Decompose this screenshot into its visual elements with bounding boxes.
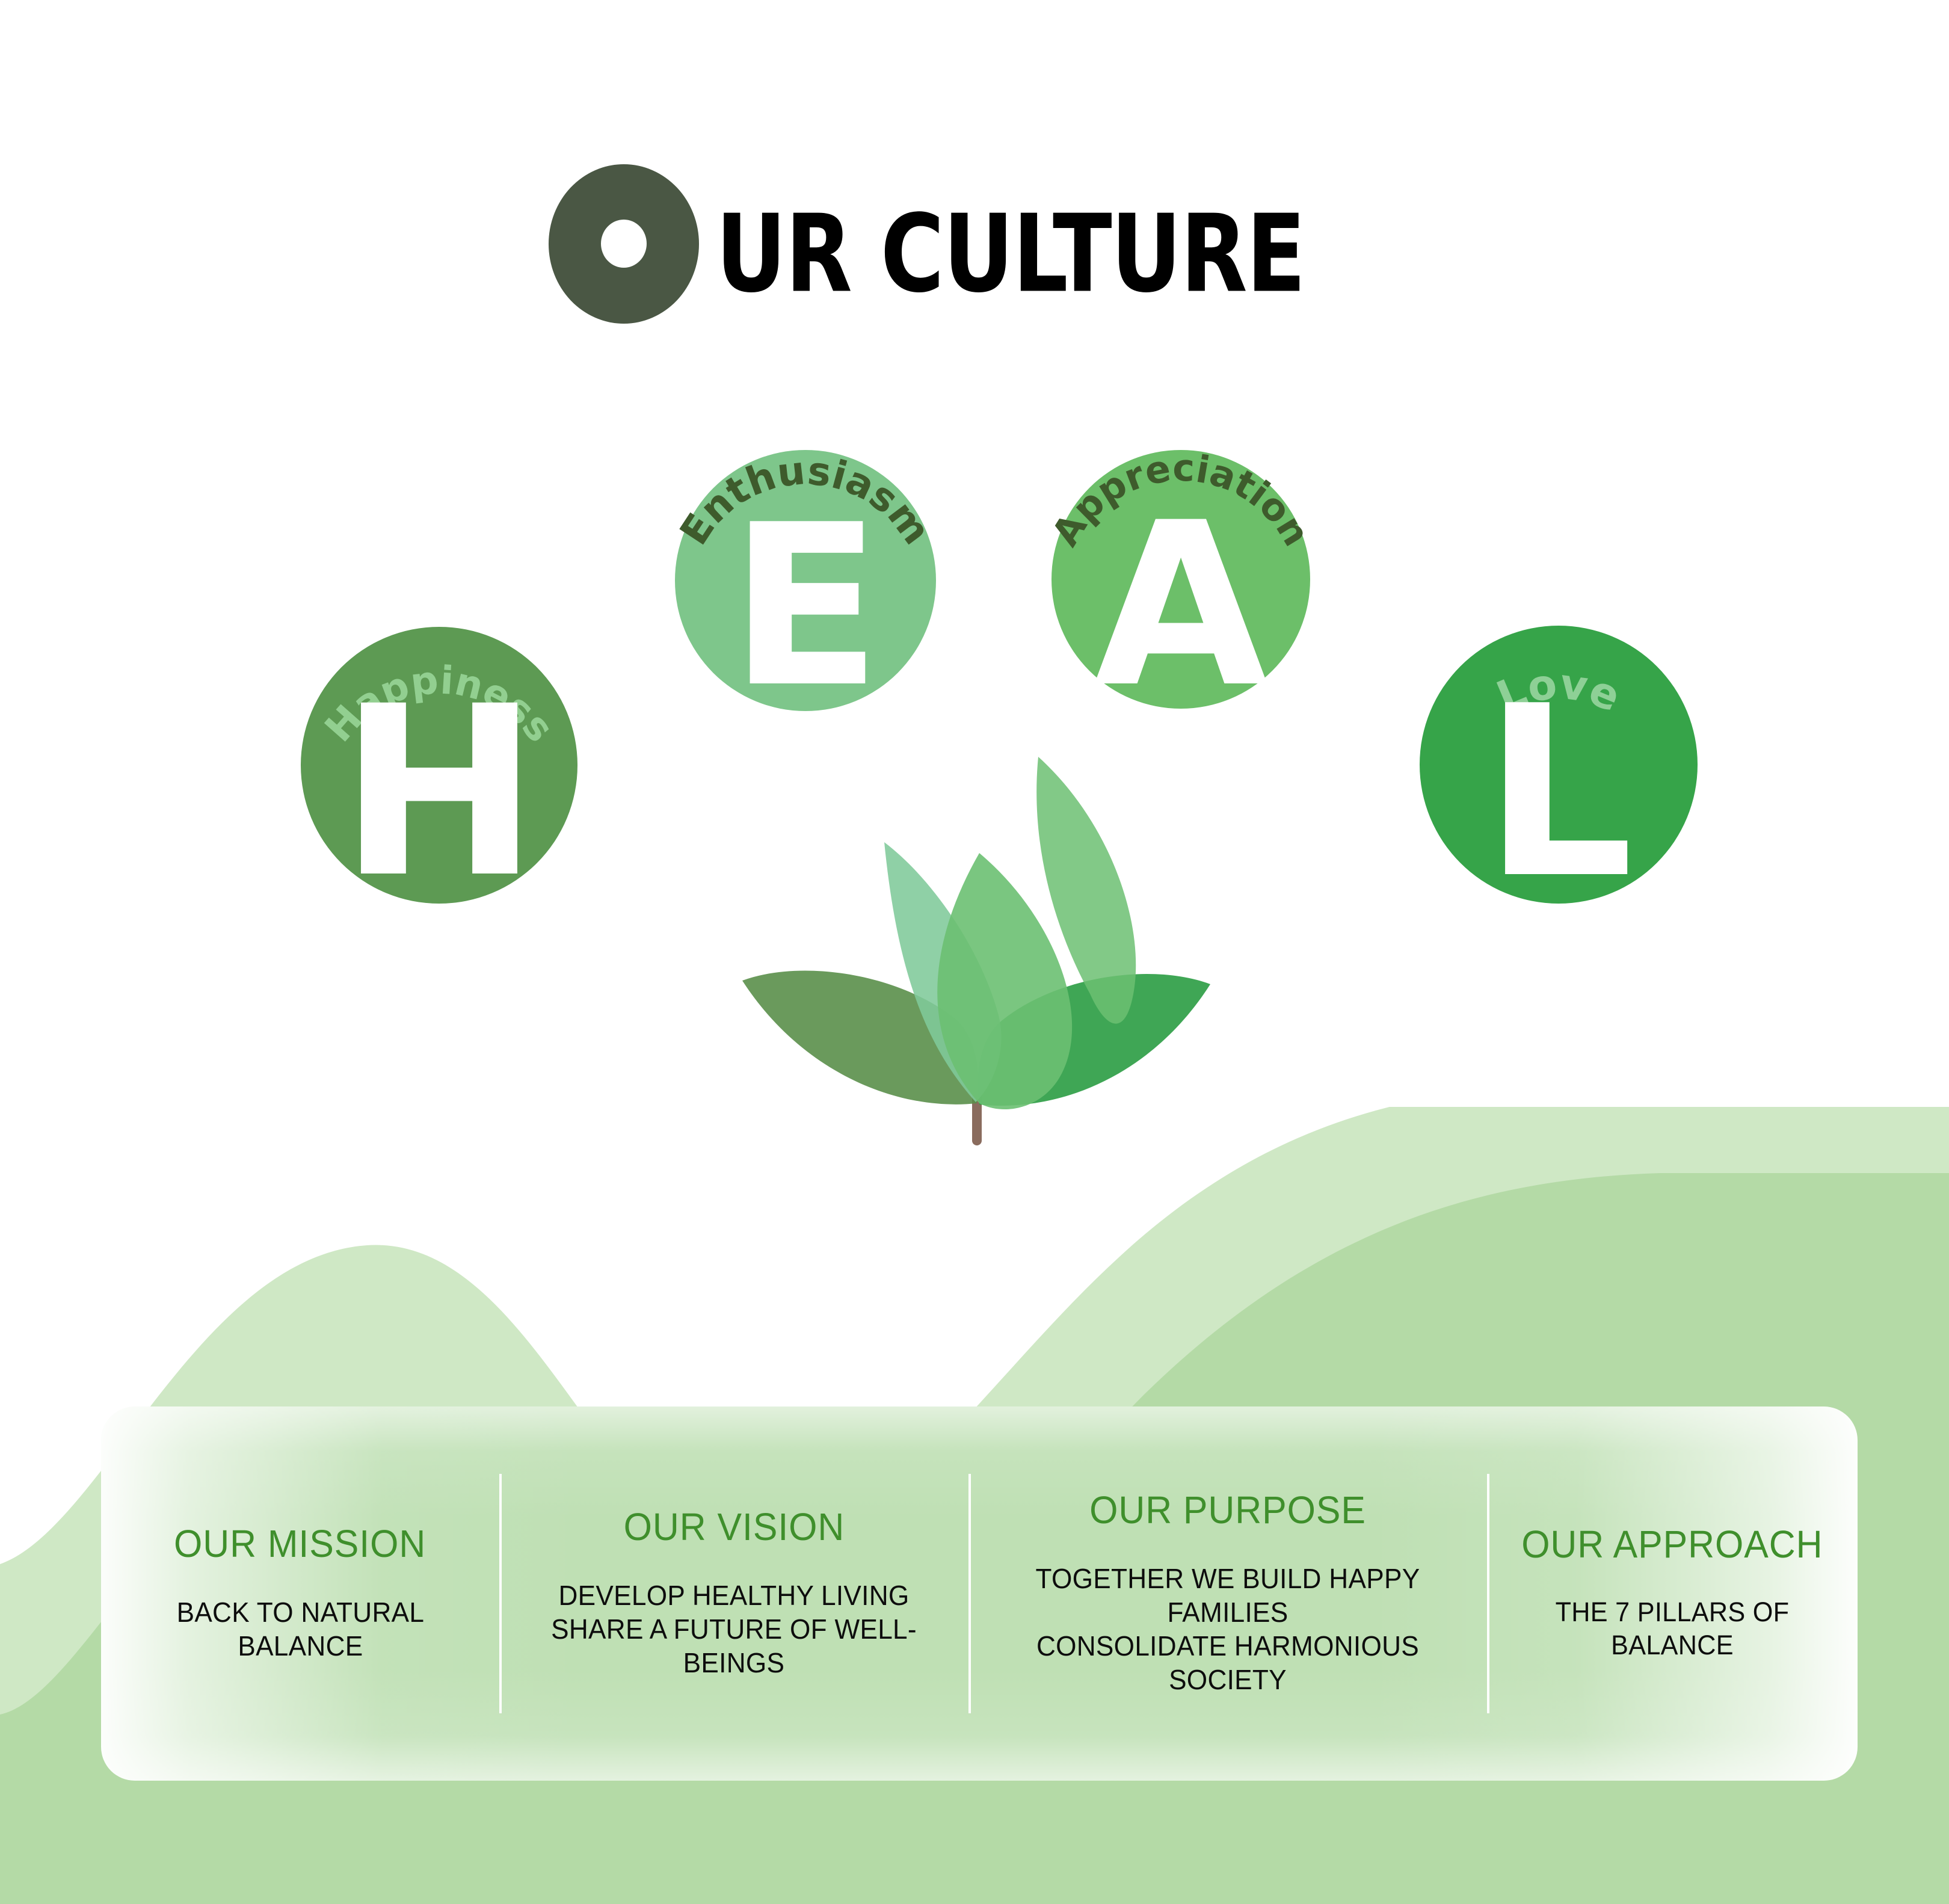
heal-circle-love[interactable]: Love L bbox=[1420, 626, 1698, 904]
vision-title: OUR VISION bbox=[623, 1508, 845, 1546]
panel-column-approach[interactable]: OUR APPROACH THE 7 PILLARS OF BALANCE bbox=[1487, 1406, 1858, 1781]
values-panel: OUR MISSION BACK TO NATURAL BALANCE OUR … bbox=[101, 1406, 1858, 1781]
purpose-body: TOGETHER WE BUILD HAPPY FAMILIES CONSOLI… bbox=[986, 1562, 1470, 1696]
heal-letter-e: E bbox=[675, 496, 936, 718]
panel-column-vision[interactable]: OUR VISION DEVELOP HEALTHY LIVING SHARE … bbox=[499, 1406, 968, 1781]
mission-title: OUR MISSION bbox=[174, 1524, 426, 1563]
heal-circle-enthusiasm[interactable]: Enthusiasm E bbox=[675, 450, 936, 711]
mission-body: BACK TO NATURAL BALANCE bbox=[176, 1595, 424, 1663]
vision-body: DEVELOP HEALTHY LIVING SHARE A FUTURE OF… bbox=[516, 1579, 952, 1680]
approach-title: OUR APPROACH bbox=[1521, 1525, 1823, 1564]
page-title: UR CULTURE bbox=[0, 153, 1949, 334]
lotus-leaves-logo bbox=[717, 735, 1234, 1150]
donut-circle-icon bbox=[549, 164, 699, 324]
approach-body: THE 7 PILLARS OF BALANCE bbox=[1501, 1596, 1843, 1662]
heal-circle-happiness[interactable]: Happiness H bbox=[301, 627, 577, 904]
page-title-text: UR CULTURE bbox=[716, 200, 1305, 307]
panel-column-mission[interactable]: OUR MISSION BACK TO NATURAL BALANCE bbox=[101, 1406, 499, 1781]
panel-column-purpose[interactable]: OUR PURPOSE TOGETHER WE BUILD HAPPY FAMI… bbox=[968, 1406, 1487, 1781]
purpose-title: OUR PURPOSE bbox=[1089, 1491, 1366, 1529]
heal-letter-a: A bbox=[1051, 493, 1310, 719]
heal-letter-h: H bbox=[298, 675, 580, 910]
donut-hole bbox=[601, 220, 647, 268]
heal-circle-appreciation[interactable]: Appreciation A bbox=[1051, 450, 1310, 709]
heal-letter-l: L bbox=[1420, 675, 1698, 911]
infographic-canvas: UR CULTURE Happiness H Enthusiasm E Appr… bbox=[0, 0, 1949, 1904]
